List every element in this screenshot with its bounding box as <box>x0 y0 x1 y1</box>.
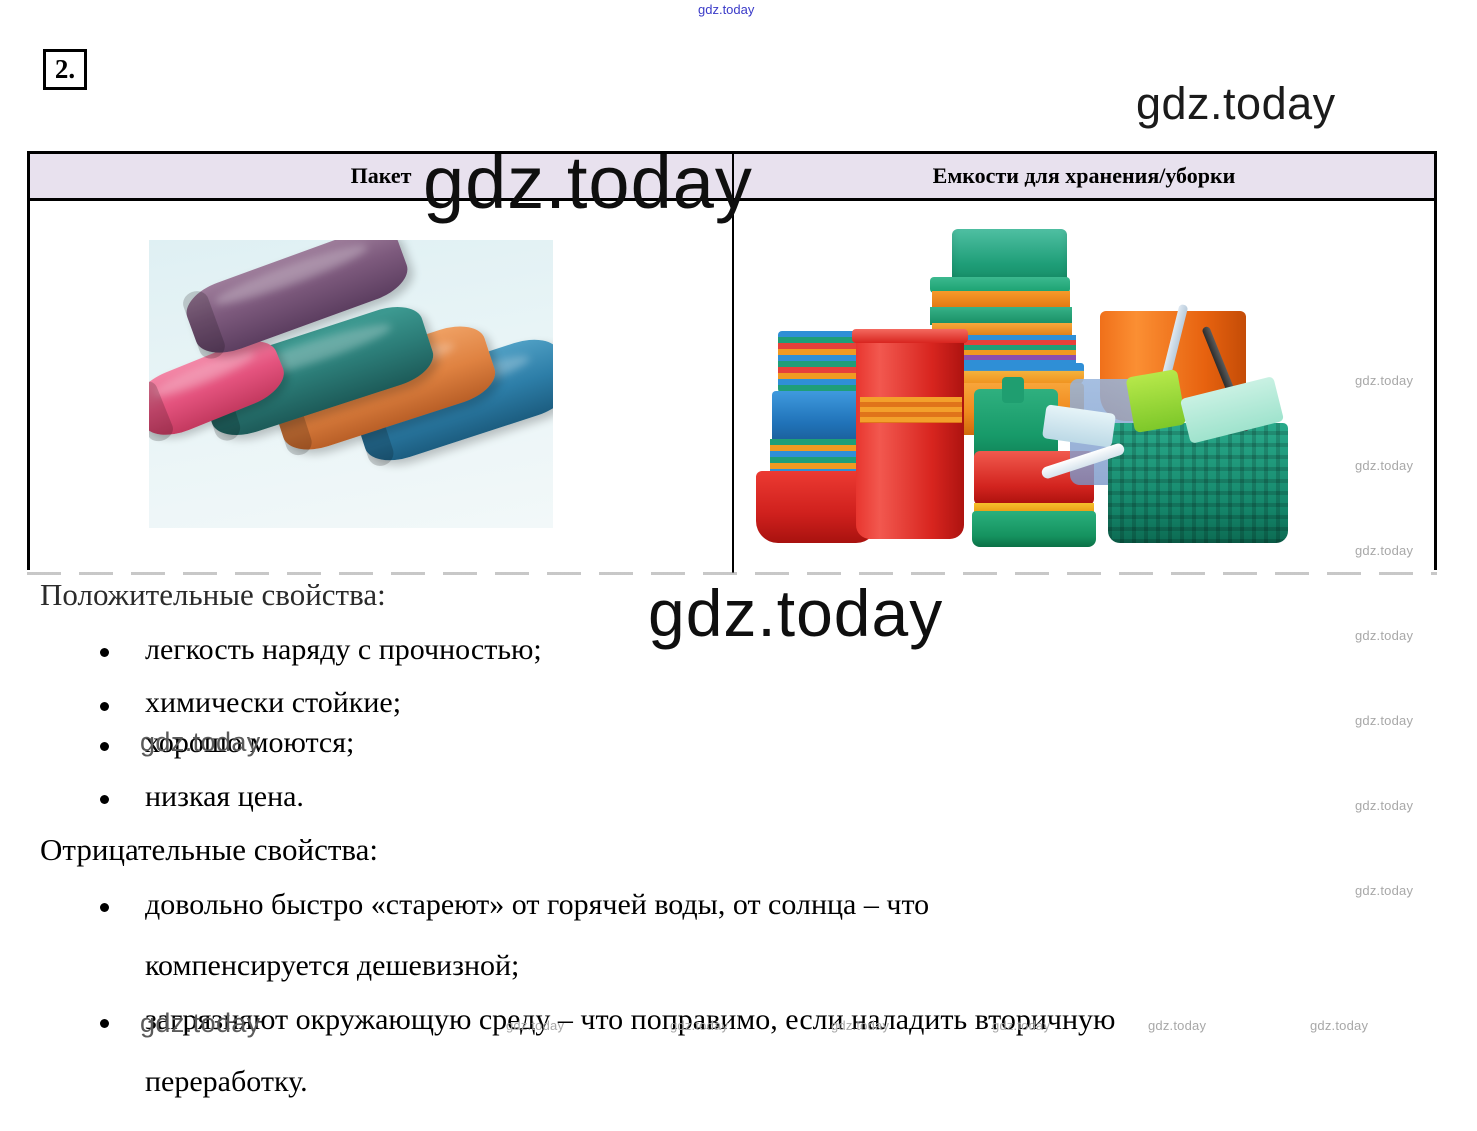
cleaning-brush-head-green <box>1126 369 1187 433</box>
rolls-of-plastic-bin-bags-image <box>149 240 553 528</box>
properties-table: Пакет Емкости для хранения/уборки <box>27 151 1437 570</box>
exercise-number-label: 2. <box>55 56 75 83</box>
container-orange-ring-stack <box>860 397 962 423</box>
table-cell-containers <box>734 201 1434 573</box>
negative-properties-heading: Отрицательные свойства: <box>40 833 1440 868</box>
brand-logo: gdz.today <box>1136 78 1336 130</box>
negative-properties-list: довольно быстро «стареют» от горячей вод… <box>40 888 1440 1098</box>
bullet-dot-icon <box>100 1019 109 1028</box>
negative-item-2-line-2: переработку. <box>145 1065 308 1098</box>
list-item: низкая цена. <box>40 780 1440 814</box>
positive-item-4: низкая цена. <box>145 780 304 813</box>
positive-item-1: легкость наряду с прочностью; <box>145 633 542 666</box>
colorful-plastic-storage-containers-image <box>752 211 1312 561</box>
negative-item-1-line-2: компенсируется дешевизной; <box>145 949 519 982</box>
top-watermark: gdz.today <box>698 2 754 17</box>
table-cell-paket <box>30 201 734 573</box>
list-item: довольно быстро «стареют» от горячей вод… <box>40 888 1440 983</box>
container-green-tray-handle <box>1002 377 1024 403</box>
bullet-dot-icon <box>100 903 109 912</box>
exercise-number-box: 2. <box>43 49 87 90</box>
bullet-dot-icon <box>100 702 109 711</box>
watermark-inline-2: gdz.today <box>140 1008 261 1039</box>
container-left-lid-stack-2 <box>770 439 870 475</box>
negative-item-2-line-1: загрязняют окружающую среду – что поправ… <box>145 1003 1440 1037</box>
container-blue-box <box>772 391 866 445</box>
table-header-containers: Емкости для хранения/уборки <box>734 154 1434 198</box>
positive-properties-list: легкость наряду с прочностью; химически … <box>40 633 1440 813</box>
negative-item-1-line-1: довольно быстро «стареют» от горячей вод… <box>145 888 1440 922</box>
table-header-row: Пакет Емкости для хранения/уборки <box>30 154 1434 201</box>
container-red-bucket <box>856 333 964 539</box>
bullet-dot-icon <box>100 742 109 751</box>
container-green-lunchbox <box>972 511 1096 547</box>
container-orange-bucket-rim <box>1096 307 1250 321</box>
table-header-paket: Пакет <box>30 154 734 198</box>
bullet-dot-icon <box>100 648 109 657</box>
positive-properties-heading: Положительные свойства: <box>40 578 1440 613</box>
scan-artifact-line <box>27 572 1437 575</box>
list-item: химически стойкие; <box>40 686 1440 720</box>
watermark-inline-1: gdz.today <box>140 727 261 758</box>
list-item: легкость наряду с прочностью; <box>40 633 1440 667</box>
table-body-row <box>30 201 1434 573</box>
positive-item-2: химически стойкие; <box>145 686 401 719</box>
bullet-dot-icon <box>100 795 109 804</box>
container-red-bucket-rim <box>852 329 968 343</box>
